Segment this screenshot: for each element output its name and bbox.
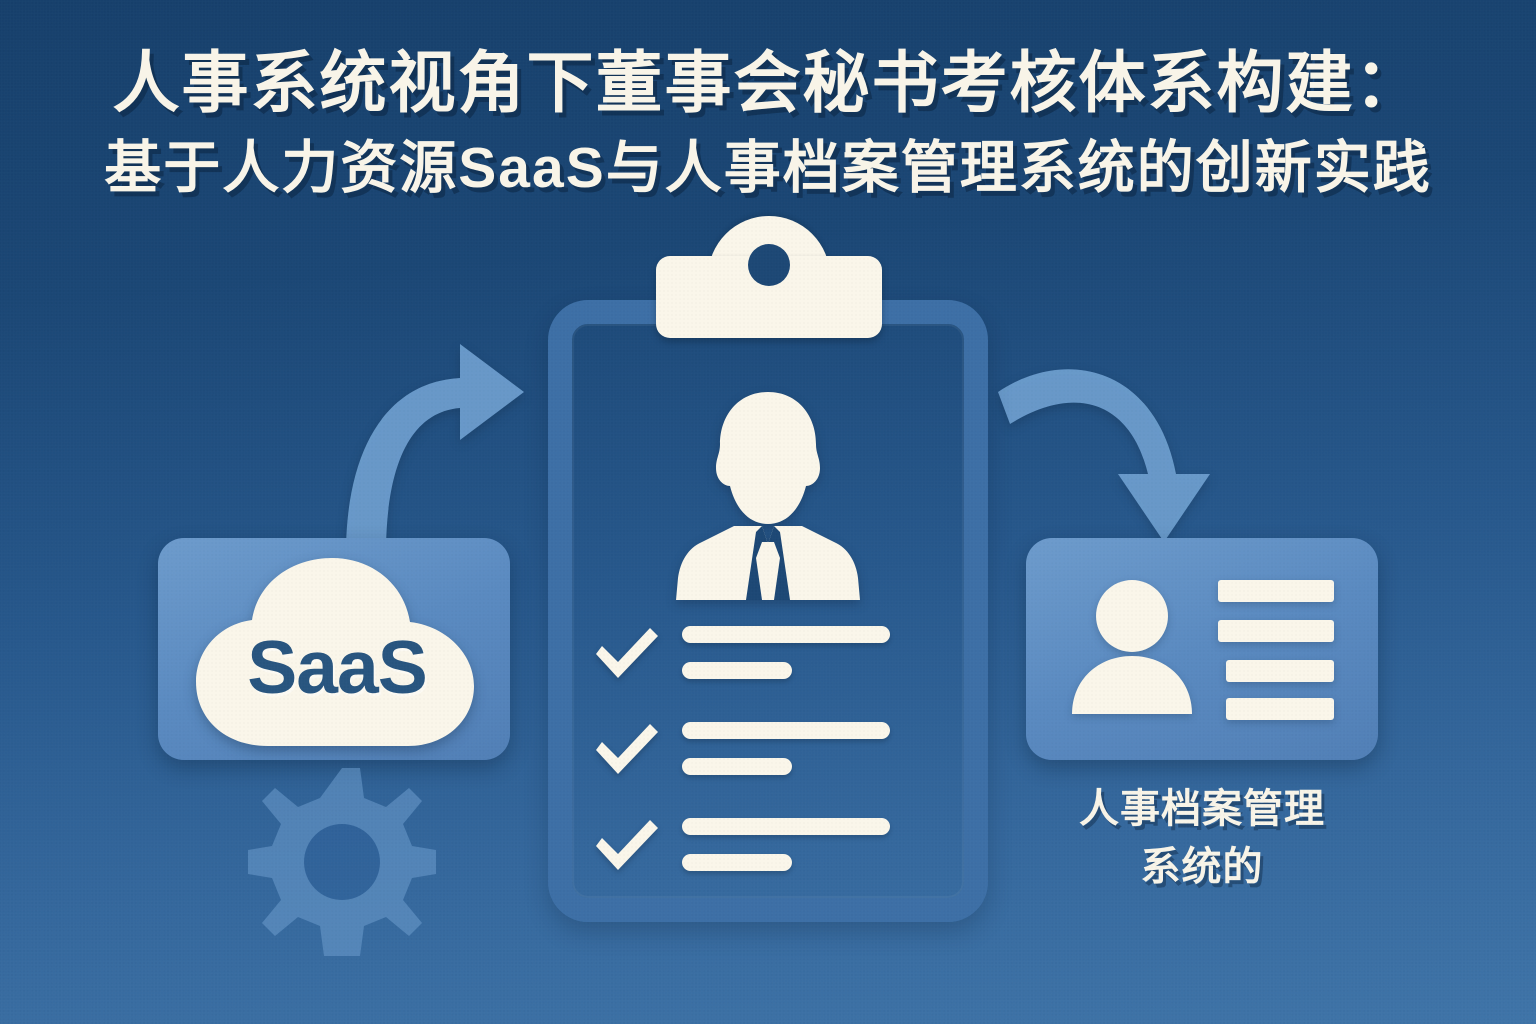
- clipboard-clip-hole-icon: [748, 244, 790, 286]
- curved-arrow-up-right-icon: [328, 330, 540, 554]
- id-card-icon: [1060, 560, 1346, 738]
- checklist-line-short: [682, 758, 792, 775]
- curved-arrow-down-right-icon: [996, 352, 1232, 548]
- businessman-icon: [658, 386, 878, 606]
- poster-canvas: 人事系统视角下董事会秘书考核体系构建： 基于人力资源SaaS与人事档案管理系统的…: [0, 0, 1536, 1024]
- checklist-line-long: [682, 626, 890, 643]
- archive-caption: 人事档案管理 系统的: [1000, 780, 1404, 896]
- check-icon: [590, 814, 662, 876]
- saas-label: SaaS: [182, 556, 492, 752]
- checklist-line-short: [682, 662, 792, 679]
- clipboard: [548, 300, 988, 922]
- check-icon: [590, 718, 662, 780]
- title-line-1: 人事系统视角下董事会秘书考核体系构建：: [0, 44, 1536, 124]
- checklist: [590, 618, 950, 906]
- archive-caption-line-2: 系统的: [1000, 838, 1404, 896]
- checklist-line-short: [682, 854, 792, 871]
- page-title: 人事系统视角下董事会秘书考核体系构建： 基于人力资源SaaS与人事档案管理系统的…: [0, 44, 1536, 204]
- check-icon: [590, 622, 662, 684]
- checklist-line-long: [682, 818, 890, 835]
- title-line-2: 基于人力资源SaaS与人事档案管理系统的创新实践: [0, 132, 1536, 204]
- gear-icon: [248, 768, 436, 956]
- checklist-item: [590, 810, 950, 906]
- checklist-item: [590, 618, 950, 714]
- checklist-line-long: [682, 722, 890, 739]
- archive-caption-line-1: 人事档案管理: [1000, 780, 1404, 838]
- checklist-item: [590, 714, 950, 810]
